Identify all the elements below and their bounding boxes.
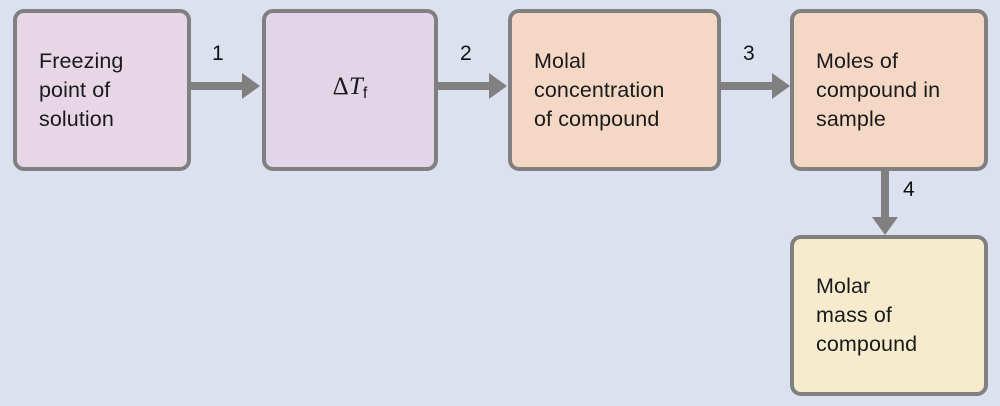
node-freezing-point-of-solution: Freezing point of solution: [13, 9, 191, 171]
node-molar-mass-of-compound: Molar mass of compound: [790, 235, 988, 396]
node-moles-of-compound-label: Moles of compound in sample: [816, 47, 940, 134]
subscript-f: f: [363, 85, 368, 102]
node-molal-concentration-label: Molal concentration of compound: [534, 47, 664, 134]
arrow-right-icon-3: [721, 82, 773, 90]
arrow-step-label-4: 4: [903, 178, 915, 202]
delta-symbol: Δ: [333, 73, 349, 100]
arrow-step-label-1: 1: [212, 42, 224, 66]
node-freezing-point-label: Freezing point of solution: [39, 47, 123, 134]
arrow-step-label-3: 3: [743, 42, 755, 66]
flowchart-canvas: Freezing point of solution ΔTf Molal con…: [0, 0, 1000, 406]
node-moles-of-compound: Moles of compound in sample: [790, 9, 988, 171]
temperature-variable: T: [349, 73, 363, 100]
node-delta-tf: ΔTf: [262, 9, 438, 171]
arrow-down-icon-4: [881, 171, 889, 218]
arrow-right-icon-1: [191, 82, 243, 90]
arrow-right-icon-2: [438, 82, 490, 90]
node-delta-tf-label: ΔTf: [333, 72, 368, 108]
arrow-step-label-2: 2: [460, 42, 472, 66]
node-molar-mass-label: Molar mass of compound: [816, 272, 917, 359]
node-molal-concentration: Molal concentration of compound: [508, 9, 721, 171]
